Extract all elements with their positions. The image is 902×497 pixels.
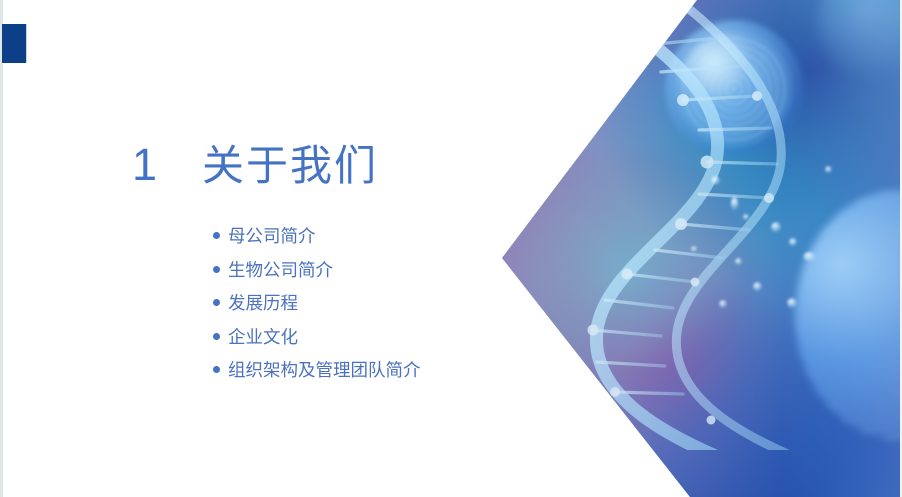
- bokeh-particle-icon: [711, 176, 720, 185]
- bullet-dot-icon: [213, 333, 220, 340]
- section-number: 1: [132, 142, 157, 187]
- bokeh-particle-icon: [753, 282, 762, 291]
- bullet-dot-icon: [213, 232, 220, 239]
- list-item-label: 企业文化: [228, 324, 298, 349]
- list-item[interactable]: 企业文化: [213, 320, 421, 354]
- accent-block: [2, 24, 27, 63]
- bokeh-particle-icon: [719, 300, 727, 308]
- section-heading: 1 关于我们: [132, 142, 378, 187]
- bokeh-particle-icon: [691, 246, 697, 252]
- left-edge-strip: [0, 0, 3, 497]
- decorative-image-panel: [495, 0, 902, 497]
- slide-canvas: 1 关于我们 母公司简介 生物公司简介 发展历程 企业文化 组织架构及管理团队简…: [0, 0, 902, 497]
- page-title: 关于我们: [202, 145, 378, 187]
- bokeh-particle-icon: [735, 258, 742, 265]
- image-edge-sheen: [782, 0, 902, 497]
- list-item-label: 发展历程: [228, 290, 298, 315]
- list-item[interactable]: 发展历程: [213, 286, 421, 320]
- list-item-label: 生物公司简介: [228, 257, 333, 282]
- list-item[interactable]: 组织架构及管理团队简介: [213, 353, 421, 387]
- list-item[interactable]: 生物公司简介: [213, 253, 421, 287]
- bokeh-particle-icon: [731, 196, 738, 211]
- bullet-dot-icon: [213, 299, 220, 306]
- bokeh-particle-icon: [771, 222, 781, 232]
- bullet-dot-icon: [213, 366, 220, 373]
- list-item-label: 母公司简介: [228, 223, 316, 248]
- list-item[interactable]: 母公司简介: [213, 219, 421, 253]
- agenda-list: 母公司简介 生物公司简介 发展历程 企业文化 组织架构及管理团队简介: [213, 219, 421, 387]
- bullet-dot-icon: [213, 266, 220, 273]
- bokeh-particle-icon: [743, 214, 749, 220]
- list-item-label: 组织架构及管理团队简介: [228, 357, 421, 382]
